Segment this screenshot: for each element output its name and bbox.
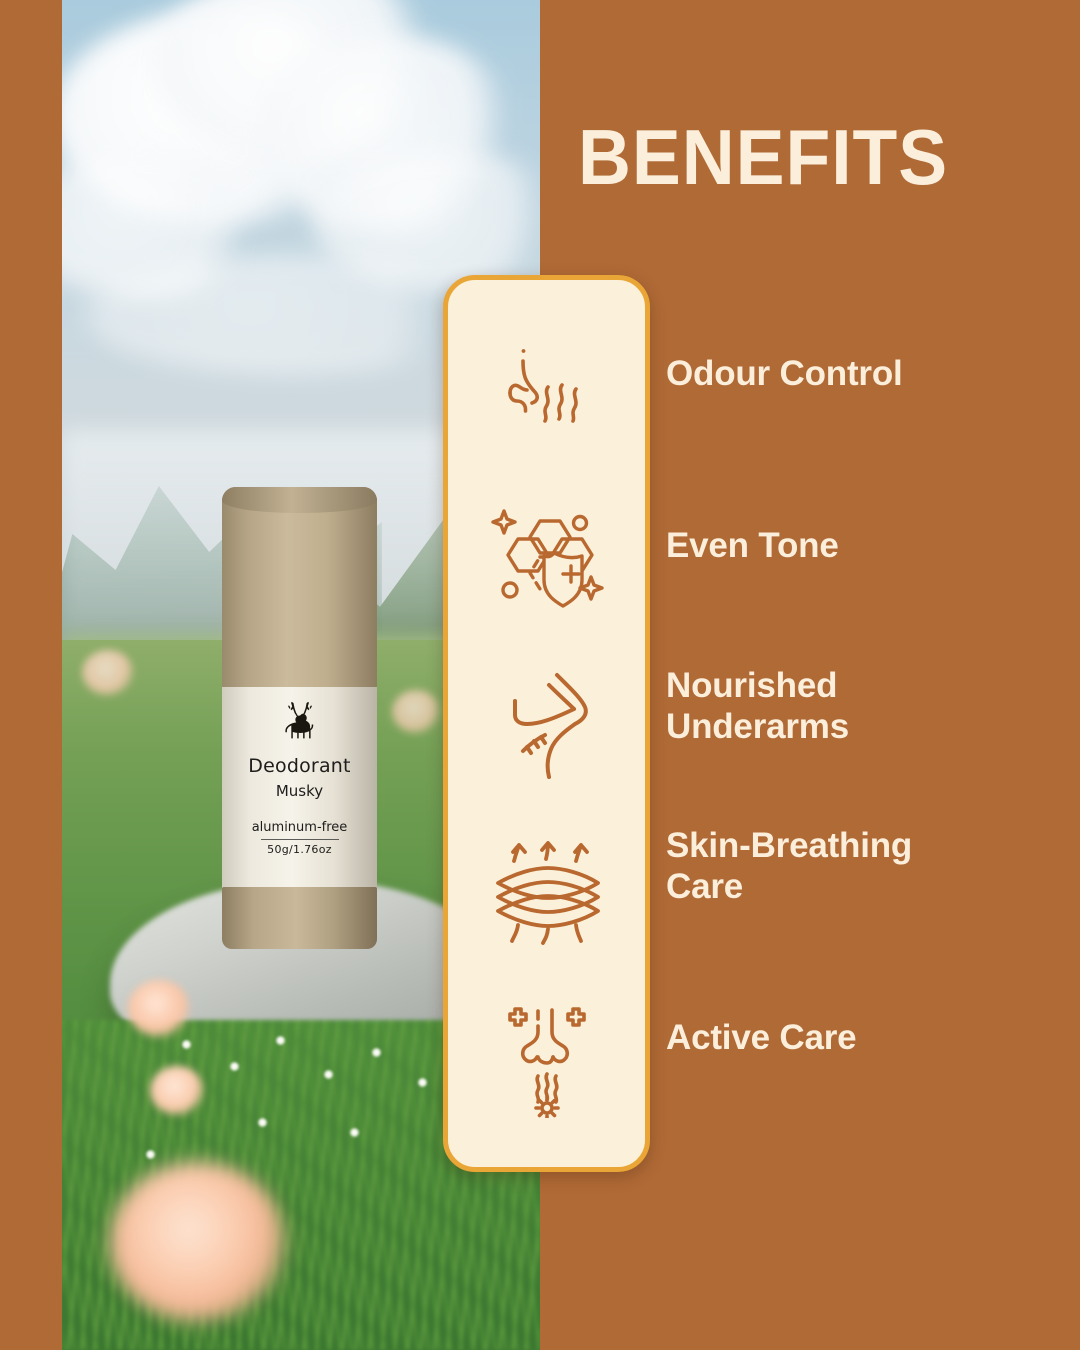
daisy <box>258 1118 267 1127</box>
daisy <box>146 1150 155 1159</box>
skin-layers-arrows-icon <box>486 816 608 966</box>
daisy <box>350 1128 359 1137</box>
daisy <box>230 1062 239 1071</box>
foreground-rose <box>110 1162 285 1322</box>
benefits-icon-card <box>443 275 650 1172</box>
benefit-label-odour-control: Odour Control <box>666 353 903 394</box>
benefit-label-active-care: Active Care <box>666 1017 856 1058</box>
rose-bloom <box>82 650 134 696</box>
daisy <box>418 1078 427 1087</box>
deer-icon <box>277 699 323 752</box>
rose-bloom <box>128 980 190 1038</box>
rose-bloom <box>150 1066 204 1116</box>
product-claim: aluminum-free <box>252 820 348 835</box>
page-title: BENEFITS <box>578 112 948 203</box>
daisy <box>182 1040 191 1049</box>
daisy <box>276 1036 285 1045</box>
tube-base <box>222 887 377 949</box>
cloud <box>82 255 502 375</box>
tube-cap <box>222 487 377 692</box>
product-name: Deodorant <box>248 755 350 777</box>
rose-bloom <box>392 690 440 734</box>
raised-arm-underarm-icon <box>493 649 601 799</box>
benefit-label-nourished-underarms: Nourished Underarms <box>666 665 986 748</box>
product-size: 50g/1.76oz <box>267 843 332 856</box>
benefit-label-skin-breathing-care: Skin-Breathing Care <box>666 825 986 908</box>
honeycomb-shield-icon <box>488 482 606 632</box>
benefit-label-even-tone: Even Tone <box>666 525 839 566</box>
nose-flower-freshness-icon <box>495 983 599 1133</box>
benefits-label-list: Odour Control Even Tone Nourished Undera… <box>666 275 986 1172</box>
label-divider <box>261 839 339 840</box>
daisy <box>372 1048 381 1057</box>
daisy <box>324 1070 333 1079</box>
product-scent: Musky <box>276 782 323 800</box>
deodorant-tube: Deodorant Musky aluminum-free 50g/1.76oz <box>222 487 377 945</box>
nose-scent-waves-icon <box>492 315 602 465</box>
